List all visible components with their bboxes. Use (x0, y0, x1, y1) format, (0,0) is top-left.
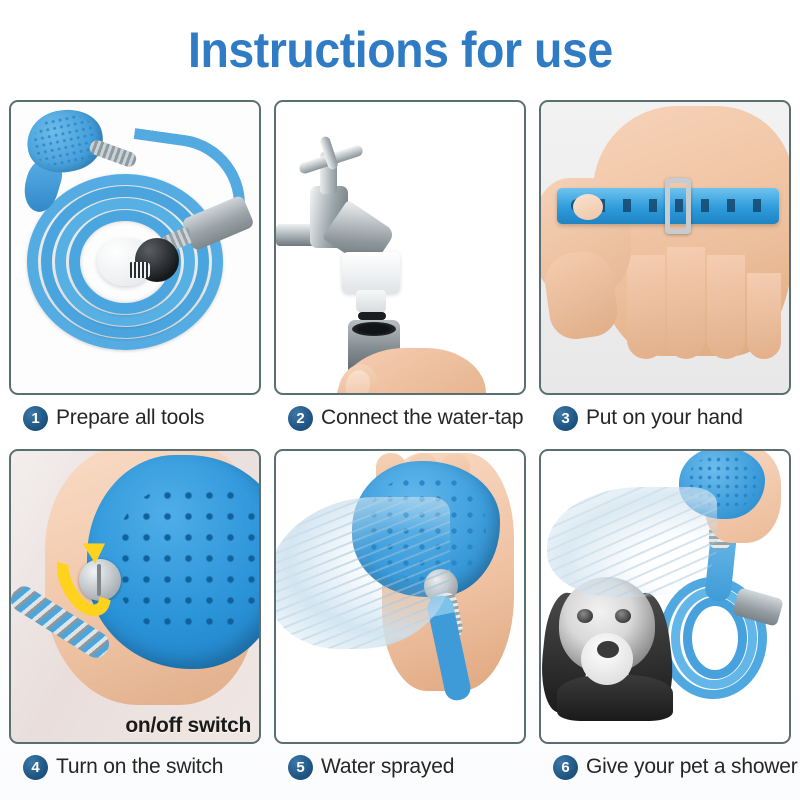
step-5: 5 Water sprayed (274, 449, 526, 790)
step-6-number: 6 (553, 755, 578, 780)
step-2-number: 2 (288, 406, 313, 431)
step-4-image: on/off switch (9, 449, 261, 744)
step-4-caption: 4 Turn on the switch (9, 744, 261, 790)
finger-ring (707, 255, 745, 359)
dog-eye-left (577, 609, 593, 623)
step-3-label: Put on your hand (586, 406, 743, 430)
steps-grid: 1 Prepare all tools (0, 100, 800, 800)
step-3: 3 Put on your hand (539, 100, 791, 441)
step-1-number: 1 (23, 406, 48, 431)
step-3-number: 3 (553, 406, 578, 431)
faucet-scene (276, 102, 524, 393)
page-header: Instructions for use (0, 0, 800, 100)
step-6-caption: 6 Give your pet a shower (539, 744, 791, 790)
step-5-number: 5 (288, 755, 313, 780)
finger-middle (667, 247, 705, 359)
step-3-caption: 3 Put on your hand (539, 395, 791, 441)
rubber-o-ring (358, 312, 386, 320)
step-2-image (274, 100, 526, 395)
finger-index (627, 255, 665, 359)
white-tap-adapter (342, 252, 400, 294)
step-1-image (9, 100, 261, 395)
step-2-caption: 2 Connect the water-tap (274, 395, 526, 441)
left-thumbnail (573, 194, 603, 220)
on-off-switch-annotation: on/off switch (125, 714, 251, 738)
step-3-image (539, 100, 791, 395)
dog-shower-scene (541, 451, 789, 742)
dog-nose (597, 641, 619, 658)
black-adapter-knob (135, 238, 179, 282)
strap-on-hand-scene (541, 102, 789, 393)
water-spray (274, 497, 450, 649)
instructions-page: Instructions for use (0, 0, 800, 800)
step-6-label: Give your pet a shower (586, 755, 798, 779)
page-title: Instructions for use (188, 21, 613, 79)
step-4: on/off switch 4 Turn on the switch (9, 449, 261, 790)
step-5-caption: 5 Water sprayed (274, 744, 526, 790)
step-6: 6 Give your pet a shower (539, 449, 791, 790)
step-1-caption: 1 Prepare all tools (9, 395, 261, 441)
step-5-label: Water sprayed (321, 755, 454, 779)
water-spray-scene (276, 451, 524, 742)
switch-scene (11, 451, 259, 742)
step-1: 1 Prepare all tools (9, 100, 261, 441)
strap-buckle (665, 178, 691, 234)
step-2-label: Connect the water-tap (321, 406, 523, 430)
step-2: 2 Connect the water-tap (274, 100, 526, 441)
sprayer-flex-neck (88, 138, 138, 169)
step-6-image (539, 449, 791, 744)
step-4-label: Turn on the switch (56, 755, 223, 779)
dog-eye-right (615, 609, 631, 623)
step-4-number: 4 (23, 755, 48, 780)
water-spray (547, 487, 717, 597)
step-1-label: Prepare all tools (56, 406, 204, 430)
tools-scene (11, 102, 259, 393)
step-5-image (274, 449, 526, 744)
finger-little (747, 273, 781, 359)
